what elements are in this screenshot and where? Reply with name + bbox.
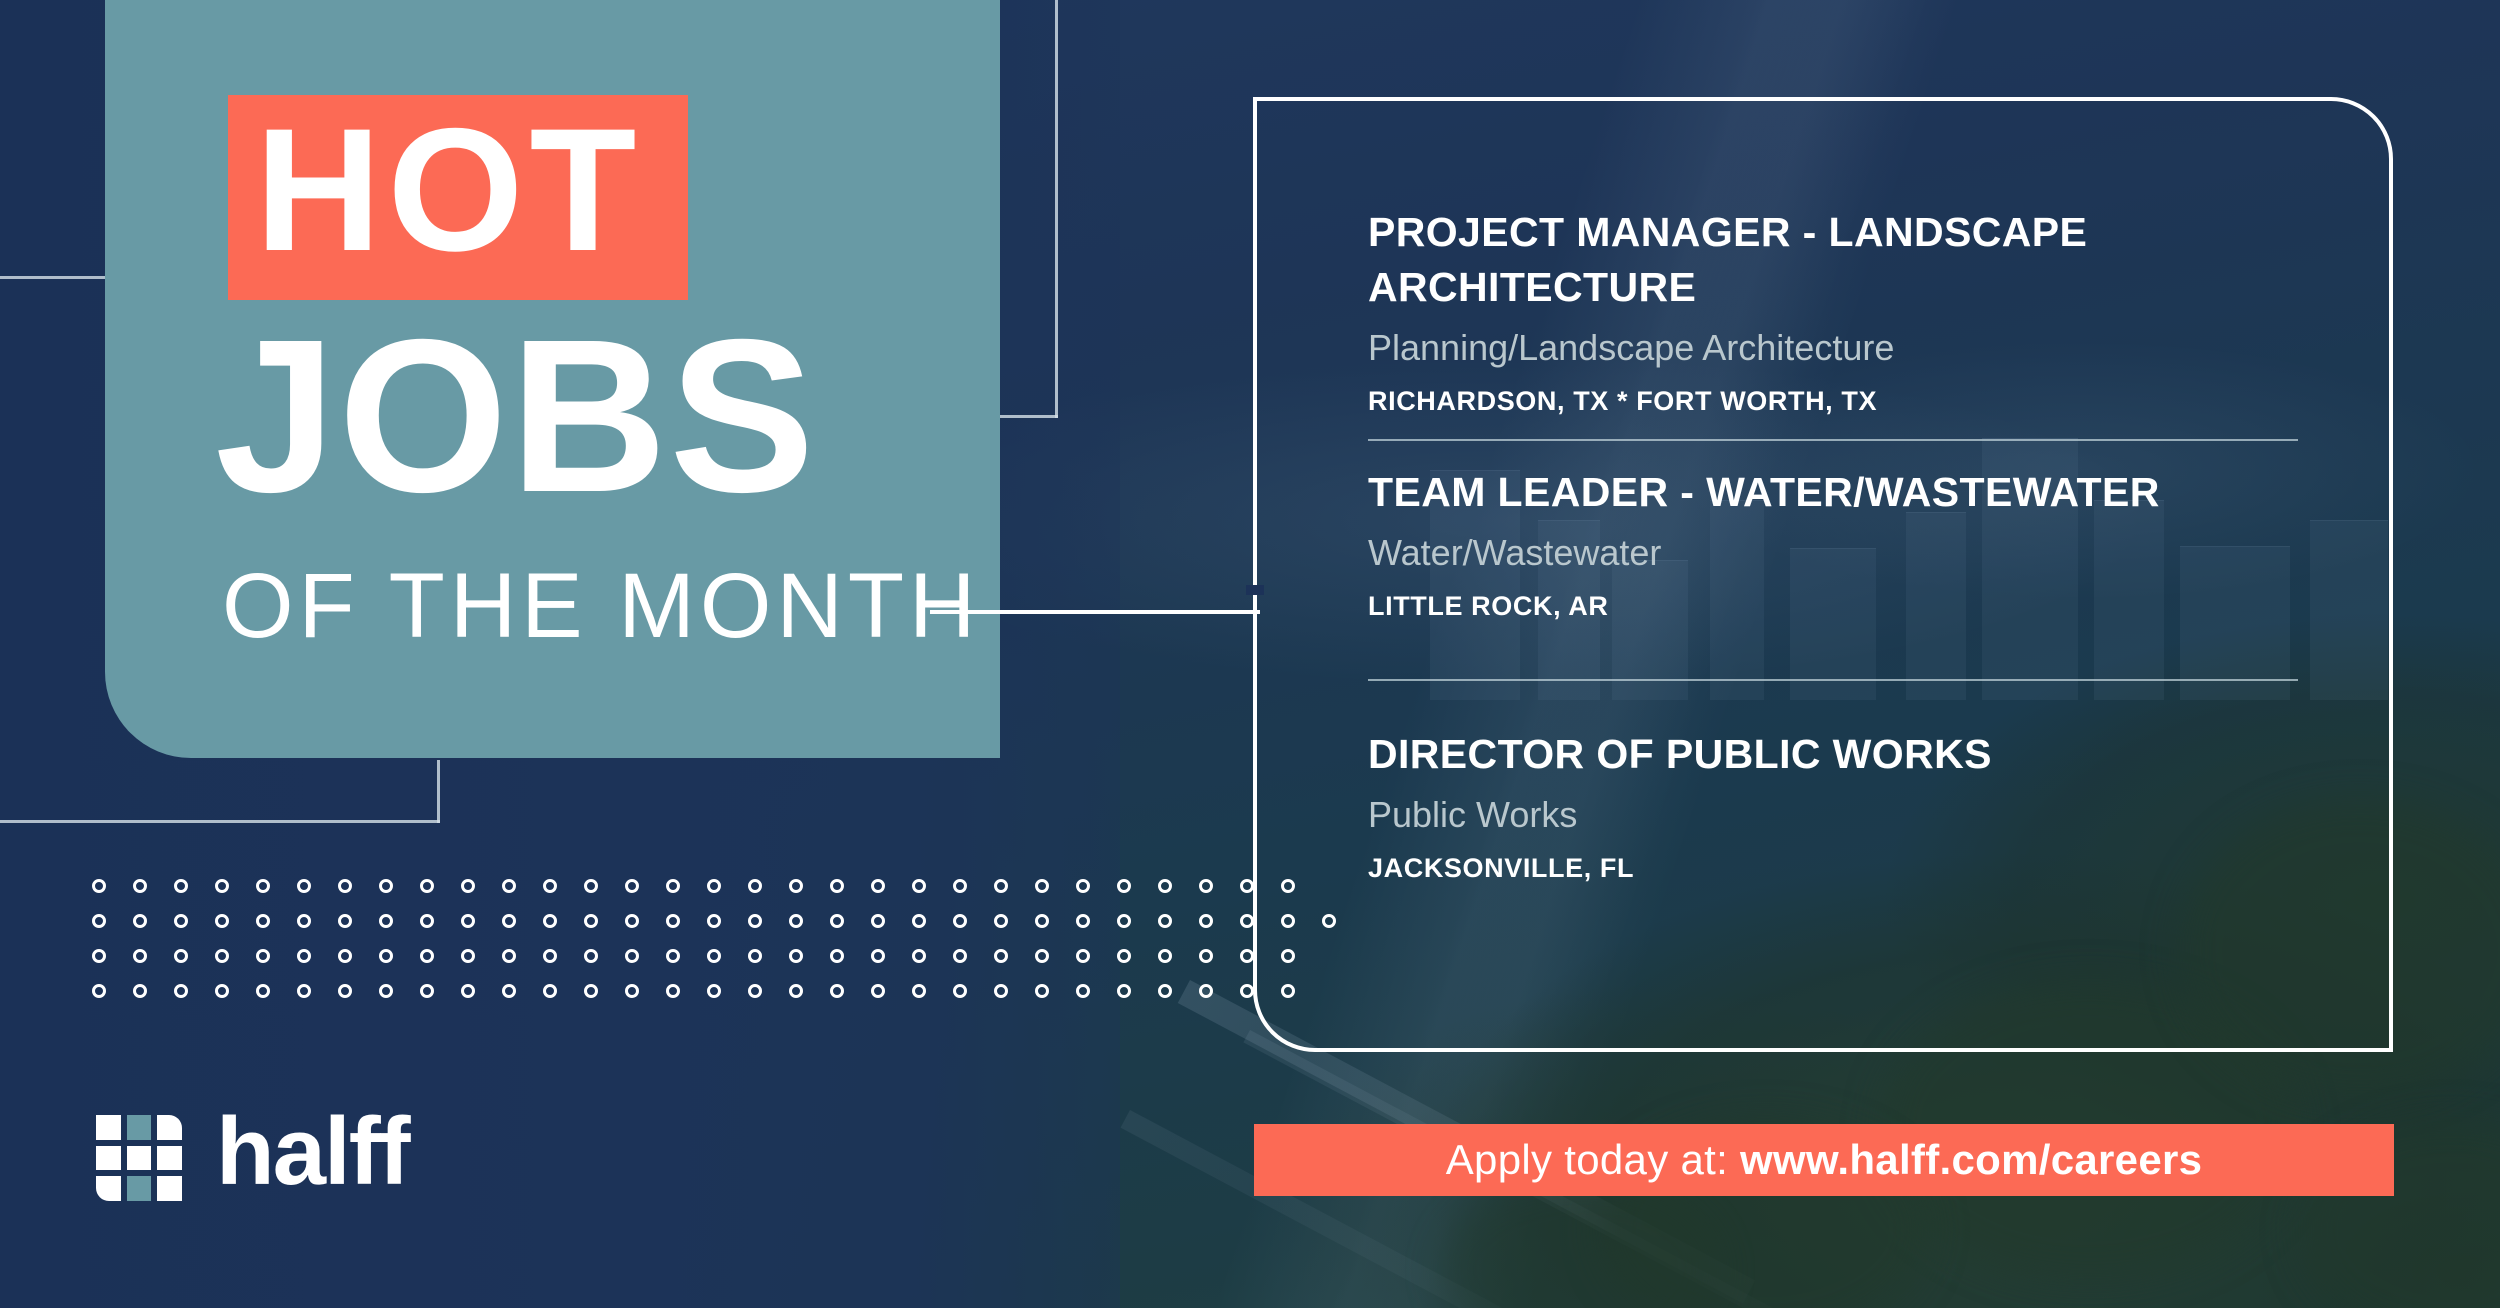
- dot: [92, 949, 106, 963]
- dot: [215, 984, 229, 998]
- dot: [666, 914, 680, 928]
- halff-wordmark: halff: [216, 1104, 409, 1200]
- dot: [1158, 914, 1172, 928]
- dot: [543, 914, 557, 928]
- dot: [1076, 879, 1090, 893]
- job-title: TEAM LEADER - WATER/WASTEWATER: [1368, 465, 2298, 520]
- dot-matrix-decoration: [92, 868, 1363, 1008]
- headline-hot: HOT: [255, 86, 642, 296]
- dot-row: [92, 973, 1363, 1008]
- job-title: DIRECTOR OF PUBLIC WORKS: [1368, 727, 2298, 782]
- dot: [256, 879, 270, 893]
- dot: [502, 879, 516, 893]
- dot: [92, 984, 106, 998]
- dot: [461, 949, 475, 963]
- dot: [707, 914, 721, 928]
- dot: [625, 879, 639, 893]
- dot: [297, 949, 311, 963]
- dot: [1240, 914, 1254, 928]
- dot: [912, 949, 926, 963]
- decor-rule-lower-left-vertical: [437, 760, 440, 823]
- dot: [174, 914, 188, 928]
- dot: [502, 984, 516, 998]
- dot: [215, 879, 229, 893]
- panel-frame-connector: [930, 610, 1260, 614]
- dot: [133, 984, 147, 998]
- dot: [789, 879, 803, 893]
- dot: [420, 984, 434, 998]
- dot: [584, 984, 598, 998]
- dot: [543, 949, 557, 963]
- job-entry: PROJECT MANAGER - LANDSCAPE ARCHITECTURE…: [1368, 205, 2298, 441]
- dot: [174, 984, 188, 998]
- logo-tile: [157, 1146, 182, 1171]
- dot: [215, 914, 229, 928]
- dot: [748, 879, 762, 893]
- dot: [543, 984, 557, 998]
- dot: [461, 879, 475, 893]
- logo-tile: [96, 1176, 121, 1201]
- dot: [830, 879, 844, 893]
- dot: [912, 879, 926, 893]
- dot: [1035, 879, 1049, 893]
- dot: [871, 879, 885, 893]
- dot: [502, 949, 516, 963]
- dot: [338, 914, 352, 928]
- dot: [666, 984, 680, 998]
- dot: [666, 949, 680, 963]
- dot: [133, 914, 147, 928]
- dot: [379, 914, 393, 928]
- dot: [912, 914, 926, 928]
- dot: [92, 914, 106, 928]
- dot: [584, 949, 598, 963]
- logo-tile: [127, 1146, 152, 1171]
- job-entry: DIRECTOR OF PUBLIC WORKS Public Works JA…: [1368, 727, 2298, 887]
- decor-rule-upper-right-horizontal: [996, 415, 1058, 418]
- dot: [256, 949, 270, 963]
- dot: [256, 914, 270, 928]
- dot: [748, 984, 762, 998]
- dot-row: [92, 938, 1363, 973]
- job-department: Public Works: [1368, 791, 2298, 839]
- job-location: LITTLE ROCK, AR: [1368, 587, 2298, 625]
- dot: [420, 914, 434, 928]
- dot: [174, 879, 188, 893]
- cta-label: Apply today at: www.halff.com/careers: [1446, 1136, 2203, 1184]
- dot: [215, 949, 229, 963]
- halff-grid-icon: [96, 1115, 182, 1201]
- dot: [748, 949, 762, 963]
- dot: [789, 949, 803, 963]
- job-department: Water/Wastewater: [1368, 529, 2298, 577]
- dot: [789, 984, 803, 998]
- dot: [1117, 914, 1131, 928]
- dot: [1117, 879, 1131, 893]
- dot: [1117, 984, 1131, 998]
- dot: [953, 879, 967, 893]
- dot: [1035, 984, 1049, 998]
- frame-gap-left-middle: [1246, 585, 1264, 595]
- dot: [830, 949, 844, 963]
- dot: [1240, 879, 1254, 893]
- dot: [584, 879, 598, 893]
- hot-jobs-poster: HOT JOBS OF THE MONTH PROJECT MANAGER - …: [0, 0, 2500, 1308]
- dot: [1158, 949, 1172, 963]
- dot: [1240, 949, 1254, 963]
- dot: [953, 949, 967, 963]
- dot: [994, 914, 1008, 928]
- job-separator: [1368, 679, 2298, 681]
- dot: [666, 879, 680, 893]
- halff-logo: halff: [96, 1110, 409, 1206]
- decor-rule-lower-left: [0, 820, 440, 823]
- dot: [1240, 984, 1254, 998]
- dot: [584, 914, 598, 928]
- dot: [1035, 914, 1049, 928]
- dot: [1117, 949, 1131, 963]
- dot: [133, 949, 147, 963]
- dot: [748, 914, 762, 928]
- logo-tile: [157, 1176, 182, 1201]
- decor-rule-upper-left: [0, 276, 106, 279]
- dot: [912, 984, 926, 998]
- headline-of-the-month: OF THE MONTH: [222, 558, 981, 654]
- jobs-list: PROJECT MANAGER - LANDSCAPE ARCHITECTURE…: [1368, 205, 2298, 887]
- logo-tile: [96, 1115, 121, 1140]
- dot: [379, 984, 393, 998]
- headline-jobs: JOBS: [215, 308, 817, 526]
- dot-row: [92, 868, 1363, 903]
- dot: [1199, 879, 1213, 893]
- headline-panel: HOT JOBS OF THE MONTH: [105, 0, 1000, 758]
- dot: [1076, 984, 1090, 998]
- dot: [953, 914, 967, 928]
- dot: [420, 949, 434, 963]
- dot: [420, 879, 434, 893]
- decor-rule-upper-right-vertical: [1055, 0, 1058, 418]
- dot: [174, 949, 188, 963]
- dot: [871, 984, 885, 998]
- dot: [994, 879, 1008, 893]
- dot: [461, 914, 475, 928]
- dot-row: [92, 903, 1363, 938]
- dot: [297, 879, 311, 893]
- job-location: RICHARDSON, TX * FORT WORTH, TX: [1368, 382, 2298, 420]
- cta-url[interactable]: www.halff.com/careers: [1740, 1136, 2202, 1183]
- logo-tile: [96, 1146, 121, 1171]
- dot: [871, 949, 885, 963]
- dot: [707, 879, 721, 893]
- dot: [1158, 984, 1172, 998]
- job-location: JACKSONVILLE, FL: [1368, 849, 2298, 887]
- dot: [707, 984, 721, 998]
- dot: [1199, 914, 1213, 928]
- job-department: Planning/Landscape Architecture: [1368, 324, 2298, 372]
- logo-tile: [157, 1115, 182, 1140]
- dot: [625, 949, 639, 963]
- dot: [1076, 914, 1090, 928]
- job-separator: [1368, 439, 2298, 441]
- dot: [297, 984, 311, 998]
- dot: [256, 984, 270, 998]
- dot: [461, 984, 475, 998]
- dot: [1076, 949, 1090, 963]
- logo-tile-teal: [127, 1176, 152, 1201]
- dot: [379, 949, 393, 963]
- cta-prefix: Apply today at:: [1446, 1136, 1740, 1183]
- dot: [338, 949, 352, 963]
- dot: [1199, 949, 1213, 963]
- dot: [953, 984, 967, 998]
- dot: [707, 949, 721, 963]
- logo-tile-teal: [127, 1115, 152, 1140]
- dot: [297, 914, 311, 928]
- dot: [830, 984, 844, 998]
- dot: [830, 914, 844, 928]
- dot: [338, 879, 352, 893]
- dot: [92, 879, 106, 893]
- dot: [502, 914, 516, 928]
- dot: [625, 914, 639, 928]
- dot: [543, 879, 557, 893]
- apply-today-cta[interactable]: Apply today at: www.halff.com/careers: [1254, 1124, 2394, 1196]
- job-title: PROJECT MANAGER - LANDSCAPE ARCHITECTURE: [1368, 205, 2298, 315]
- dot: [1158, 879, 1172, 893]
- dot: [1199, 984, 1213, 998]
- dot: [1035, 949, 1049, 963]
- dot: [789, 914, 803, 928]
- dot: [871, 914, 885, 928]
- dot: [379, 879, 393, 893]
- dot: [133, 879, 147, 893]
- dot: [625, 984, 639, 998]
- job-entry: TEAM LEADER - WATER/WASTEWATER Water/Was…: [1368, 465, 2298, 681]
- dot: [338, 984, 352, 998]
- dot: [994, 984, 1008, 998]
- dot: [994, 949, 1008, 963]
